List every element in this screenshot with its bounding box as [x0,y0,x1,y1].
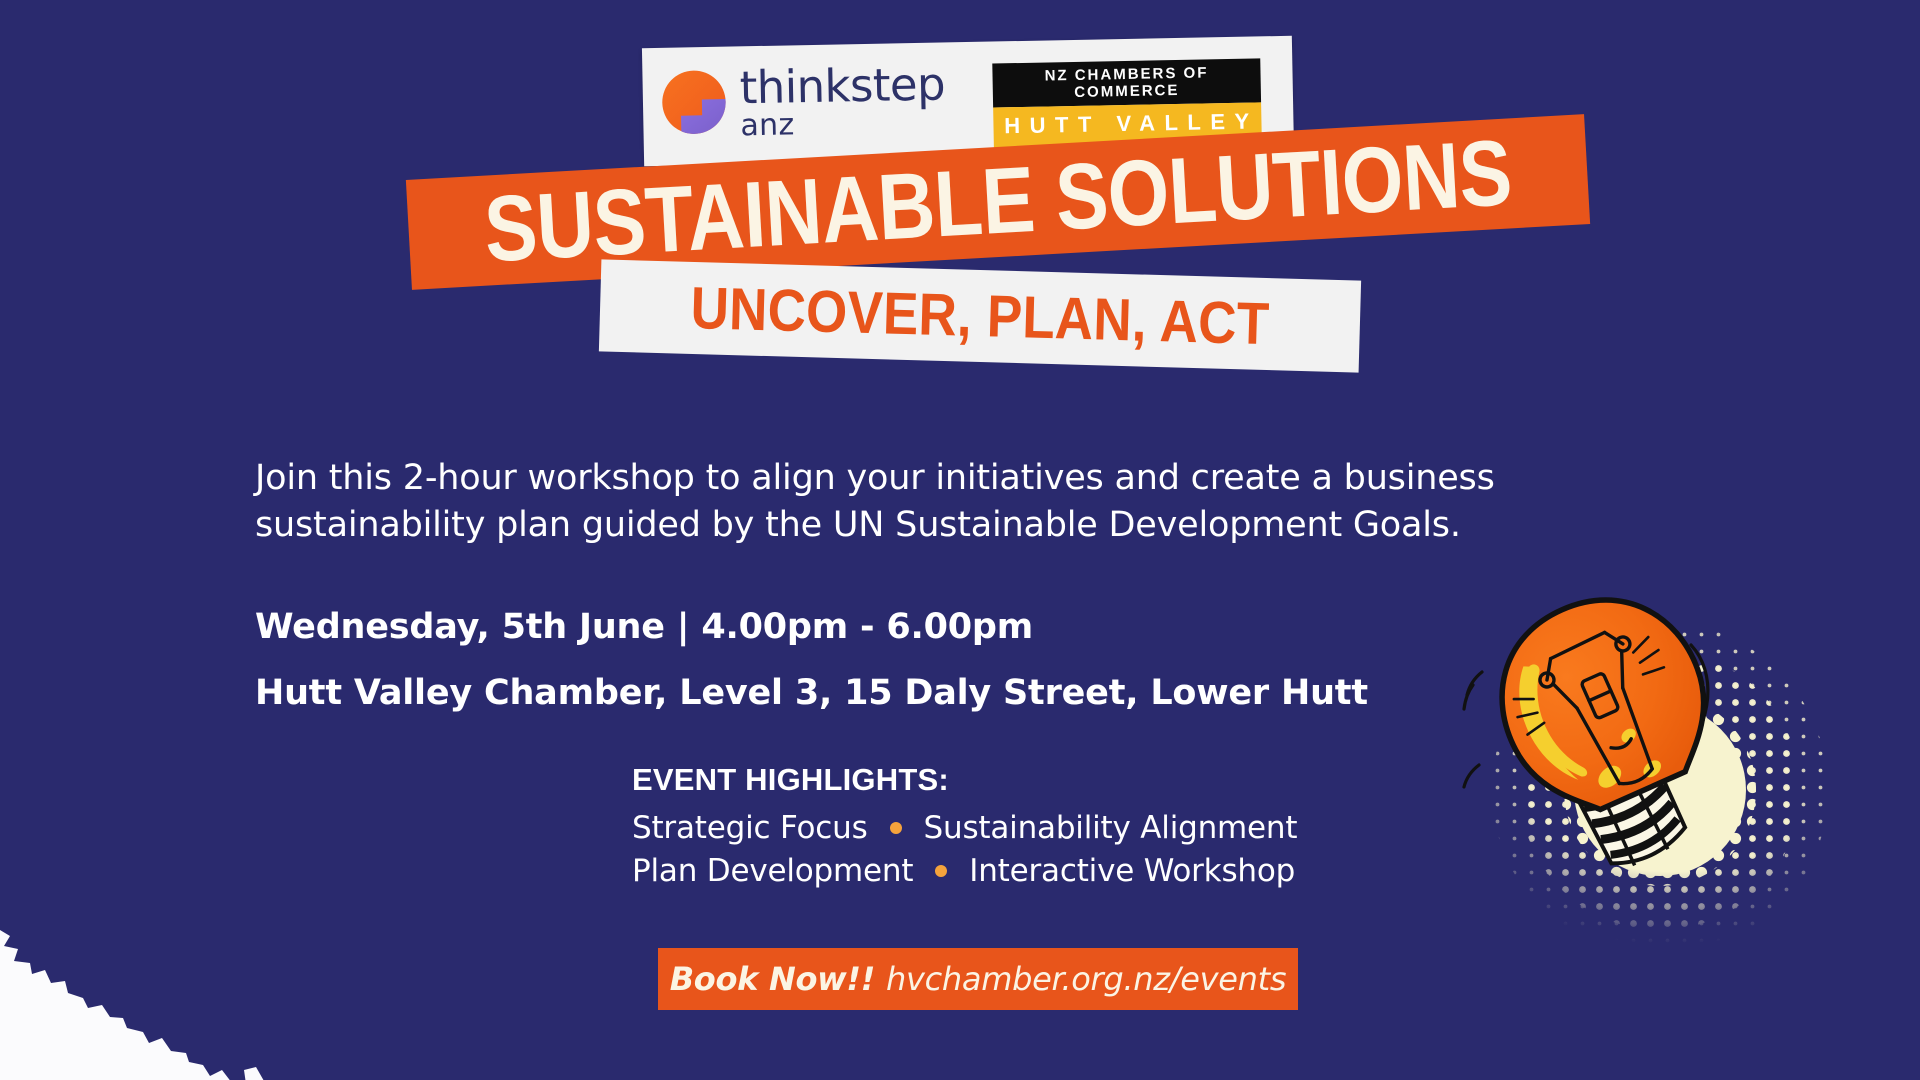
thinkstep-logo: thinkstep anz [660,59,946,140]
event-highlights: EVENT HIGHLIGHTS: Strategic Focus Sustai… [632,762,1332,896]
cta-label: Book Now!! [670,960,875,998]
thinkstep-anz-label: anz [740,107,946,141]
thinkstep-mark-icon [660,69,727,136]
highlight-item: Strategic Focus [632,810,868,846]
book-now-button[interactable]: Book Now!! hvchamber.org.nz/events [658,948,1298,1010]
highlights-title: EVENT HIGHLIGHTS: [632,762,1332,798]
headline-subtitle: UNCOVER, PLAN, ACT [690,274,1270,358]
highlight-item: Plan Development [632,853,913,889]
chamber-top-line: NZ CHAMBERS OF COMMERCE [992,58,1261,107]
thinkstep-wordmark: thinkstep [739,61,945,110]
event-venue: Hutt Valley Chamber, Level 3, 15 Daly St… [255,673,1368,713]
bullet-dot-icon [890,822,902,834]
event-poster: thinkstep anz NZ CHAMBERS OF COMMERCE HU… [0,0,1920,1080]
cta-url: hvchamber.org.nz/events [886,960,1286,998]
highlight-item: Interactive Workshop [969,853,1295,889]
bullet-dot-icon [935,865,947,877]
highlight-row: Plan Development Interactive Workshop [632,853,1332,889]
event-datetime: Wednesday, 5th June | 4.00pm - 6.00pm [255,607,1033,647]
lightbulb-illustration [1455,575,1920,945]
intro-paragraph: Join this 2-hour workshop to align your … [255,455,1605,548]
subtitle-card: UNCOVER, PLAN, ACT [599,259,1361,372]
highlight-row: Strategic Focus Sustainability Alignment [632,810,1332,846]
highlight-item: Sustainability Alignment [924,810,1298,846]
